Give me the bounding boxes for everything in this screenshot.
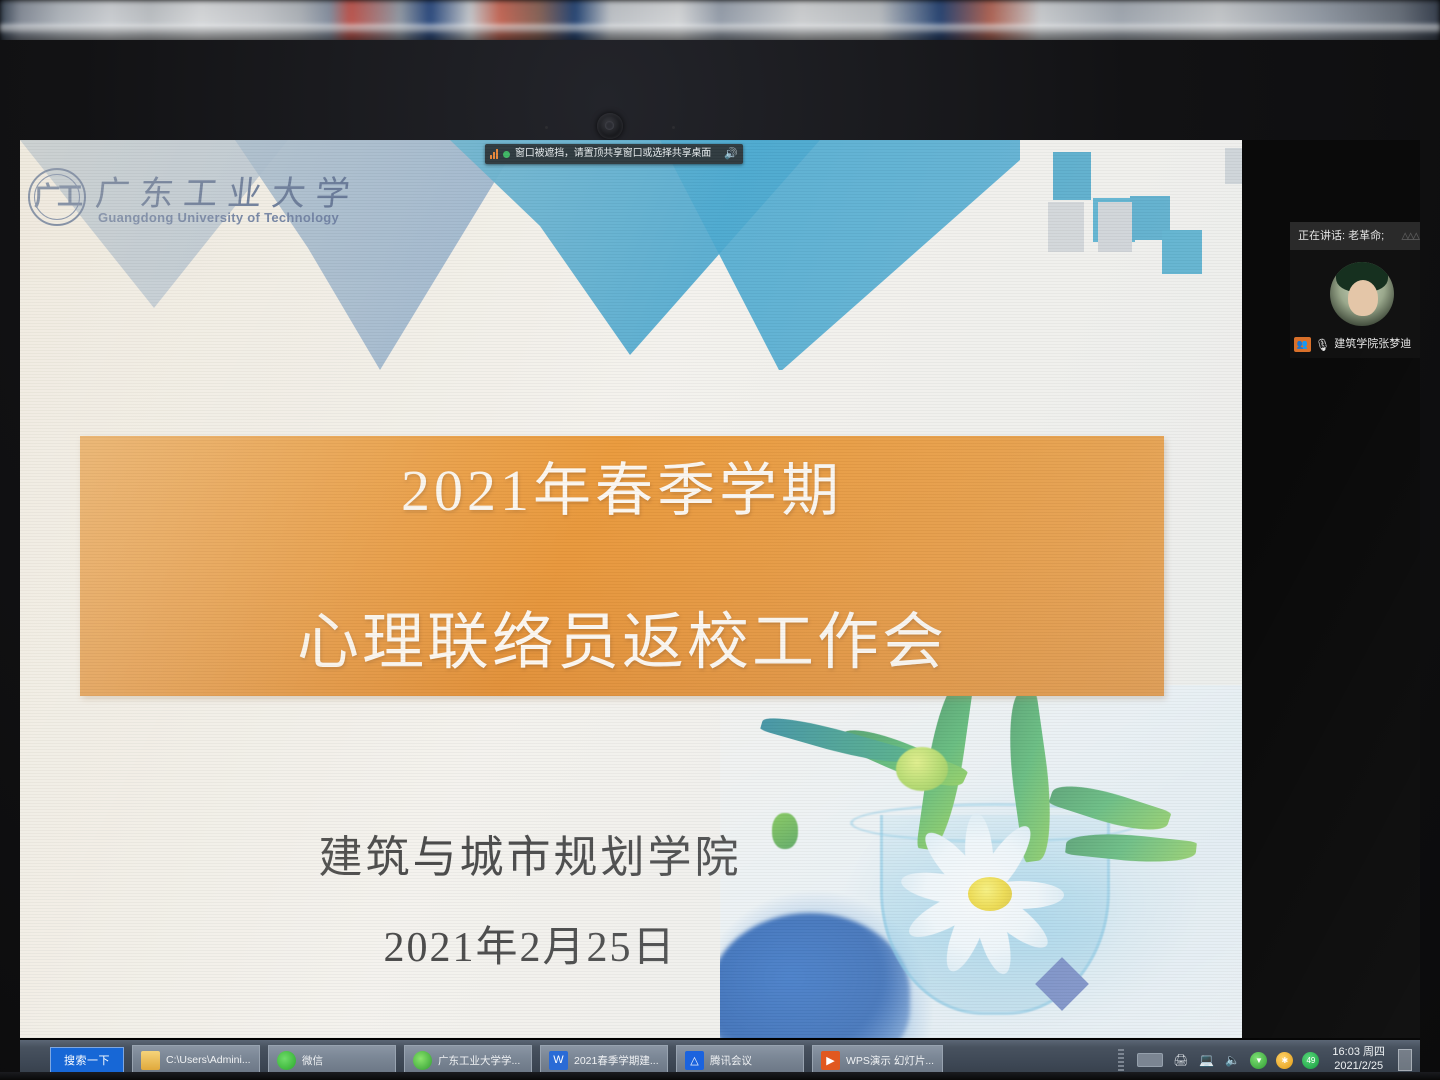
avatar-face xyxy=(1348,280,1378,316)
laptop-bezel-bottom xyxy=(0,1072,1440,1080)
taskbar-item-label: 广东工业大学学... xyxy=(438,1053,520,1068)
bezel-indicator-dot xyxy=(545,126,548,129)
slide-title-line-1: 2021年春季学期 xyxy=(80,462,1164,520)
slide-date: 2021年2月25日 xyxy=(270,913,790,974)
square-decoration-grey xyxy=(1048,202,1084,252)
daisy-center xyxy=(968,877,1012,911)
square-decoration xyxy=(1053,152,1091,200)
shield-icon[interactable]: ▼ xyxy=(1250,1052,1267,1069)
wechat-icon xyxy=(277,1051,296,1070)
show-desktop-icon[interactable] xyxy=(1398,1049,1412,1071)
audio-waveform-icon: ▵▵▵ xyxy=(1401,226,1418,244)
seal-glyph: 广工 xyxy=(34,184,80,210)
conference-participant-panel[interactable]: 正在讲话: 老革命; ▵▵▵ 👥 🎙 建筑学院张梦迪 xyxy=(1242,140,1420,1038)
speaking-indicator-bar: 正在讲话: 老革命; ▵▵▵ xyxy=(1290,222,1420,250)
flower-vase-photo xyxy=(720,685,1242,1038)
participant-video-tile[interactable]: 👥 🎙 建筑学院张梦迪 xyxy=(1290,250,1420,358)
university-name-cn: 广东工业大学 xyxy=(93,166,362,215)
search-input[interactable]: 搜索一下 xyxy=(50,1047,124,1074)
taskbar-item-label: 2021春季学期建... xyxy=(574,1053,659,1068)
taskbar-item-label: C:\Users\Admini... xyxy=(166,1054,251,1066)
update-icon[interactable]: ✱ xyxy=(1276,1052,1293,1069)
taskbar-item-label: 腾讯会议 xyxy=(710,1053,752,1068)
taskbar-item-wps-presentation[interactable]: ▶ WPS演示 幻灯片... xyxy=(812,1045,943,1075)
speaking-label: 正在讲话: 老革命; xyxy=(1298,231,1384,242)
volume-icon[interactable]: 🔈 xyxy=(1224,1052,1241,1069)
university-seal-icon: 广工 xyxy=(28,168,86,226)
square-decoration-grey xyxy=(1098,202,1132,252)
slide-subtitle: 建筑与城市规划学院 2021年2月25日 xyxy=(270,830,790,974)
slide-title-band: 2021年春季学期 心理联络员返校工作会 xyxy=(80,436,1164,696)
taskbar-item-explorer[interactable]: C:\Users\Admini... xyxy=(132,1045,260,1075)
participant-name-row: 👥 🎙 建筑学院张梦迪 xyxy=(1294,337,1411,352)
webcam-icon xyxy=(597,113,623,139)
network-icon[interactable]: 💻 xyxy=(1198,1052,1215,1069)
people-icon: 👥 xyxy=(1294,337,1311,352)
taskbar-item-tencent-meeting[interactable]: △ 腾讯会议 xyxy=(676,1045,804,1075)
square-decoration xyxy=(1162,230,1202,274)
slide-organization: 建筑与城市规划学院 xyxy=(270,830,790,885)
speaker-icon[interactable]: 🔊 xyxy=(724,149,738,160)
presentation-slide[interactable]: 广工 广东工业大学 Guangdong University of Techno… xyxy=(20,140,1242,1038)
screenshot-root: 广工 广东工业大学 Guangdong University of Techno… xyxy=(0,0,1440,1080)
tencent-meeting-icon: △ xyxy=(685,1051,704,1070)
wps-presentation-icon: ▶ xyxy=(821,1051,840,1070)
participant-name: 建筑学院张梦迪 xyxy=(1334,339,1411,350)
avatar xyxy=(1330,262,1394,326)
clock-time: 16:03 周四 xyxy=(1332,1046,1385,1060)
taskbar-item-wechat[interactable]: 微信 xyxy=(268,1045,396,1075)
printer-icon[interactable]: 🖨 xyxy=(1172,1052,1189,1069)
wps-writer-icon: W xyxy=(549,1051,568,1070)
microphone-icon[interactable]: 🎙 xyxy=(1315,339,1330,351)
daisy-flower xyxy=(910,845,1090,955)
taskbar-item-browser[interactable]: 广东工业大学学... xyxy=(404,1045,532,1075)
university-logo: 广工 广东工业大学 Guangdong University of Techno… xyxy=(20,162,320,242)
slide-title-line-2: 心理联络员返校工作会 xyxy=(80,612,1164,674)
square-decoration-grey xyxy=(1225,148,1242,184)
clock[interactable]: 16:03 周四 2021/2/25 xyxy=(1328,1046,1389,1074)
monitor-screen: 广工 广东工业大学 Guangdong University of Techno… xyxy=(20,140,1420,1040)
taskbar-item-wps-writer[interactable]: W 2021春季学期建... xyxy=(540,1045,668,1075)
folder-icon xyxy=(141,1051,160,1070)
search-placeholder: 搜索一下 xyxy=(64,1052,110,1068)
signal-bars-icon xyxy=(490,149,498,159)
screen-share-warning-text: 窗口被遮挡，请置顶共享窗口或选择共享桌面 xyxy=(515,149,711,159)
show-hidden-icons-icon[interactable] xyxy=(1118,1049,1124,1071)
green-status-dot-icon xyxy=(503,151,510,158)
browser-icon xyxy=(413,1051,432,1070)
green-bud xyxy=(896,747,948,791)
taskbar-item-label: 微信 xyxy=(302,1053,323,1068)
screen-share-warning-toast[interactable]: 窗口被遮挡，请置顶共享窗口或选择共享桌面 🔊 xyxy=(485,144,743,164)
handle-icon[interactable] xyxy=(1137,1053,1163,1067)
bezel-indicator-dot xyxy=(672,126,675,129)
university-name-en: Guangdong University of Technology xyxy=(98,210,339,225)
taskbar-item-label: WPS演示 幻灯片... xyxy=(846,1053,934,1068)
speed-icon[interactable]: 49 xyxy=(1302,1052,1319,1069)
